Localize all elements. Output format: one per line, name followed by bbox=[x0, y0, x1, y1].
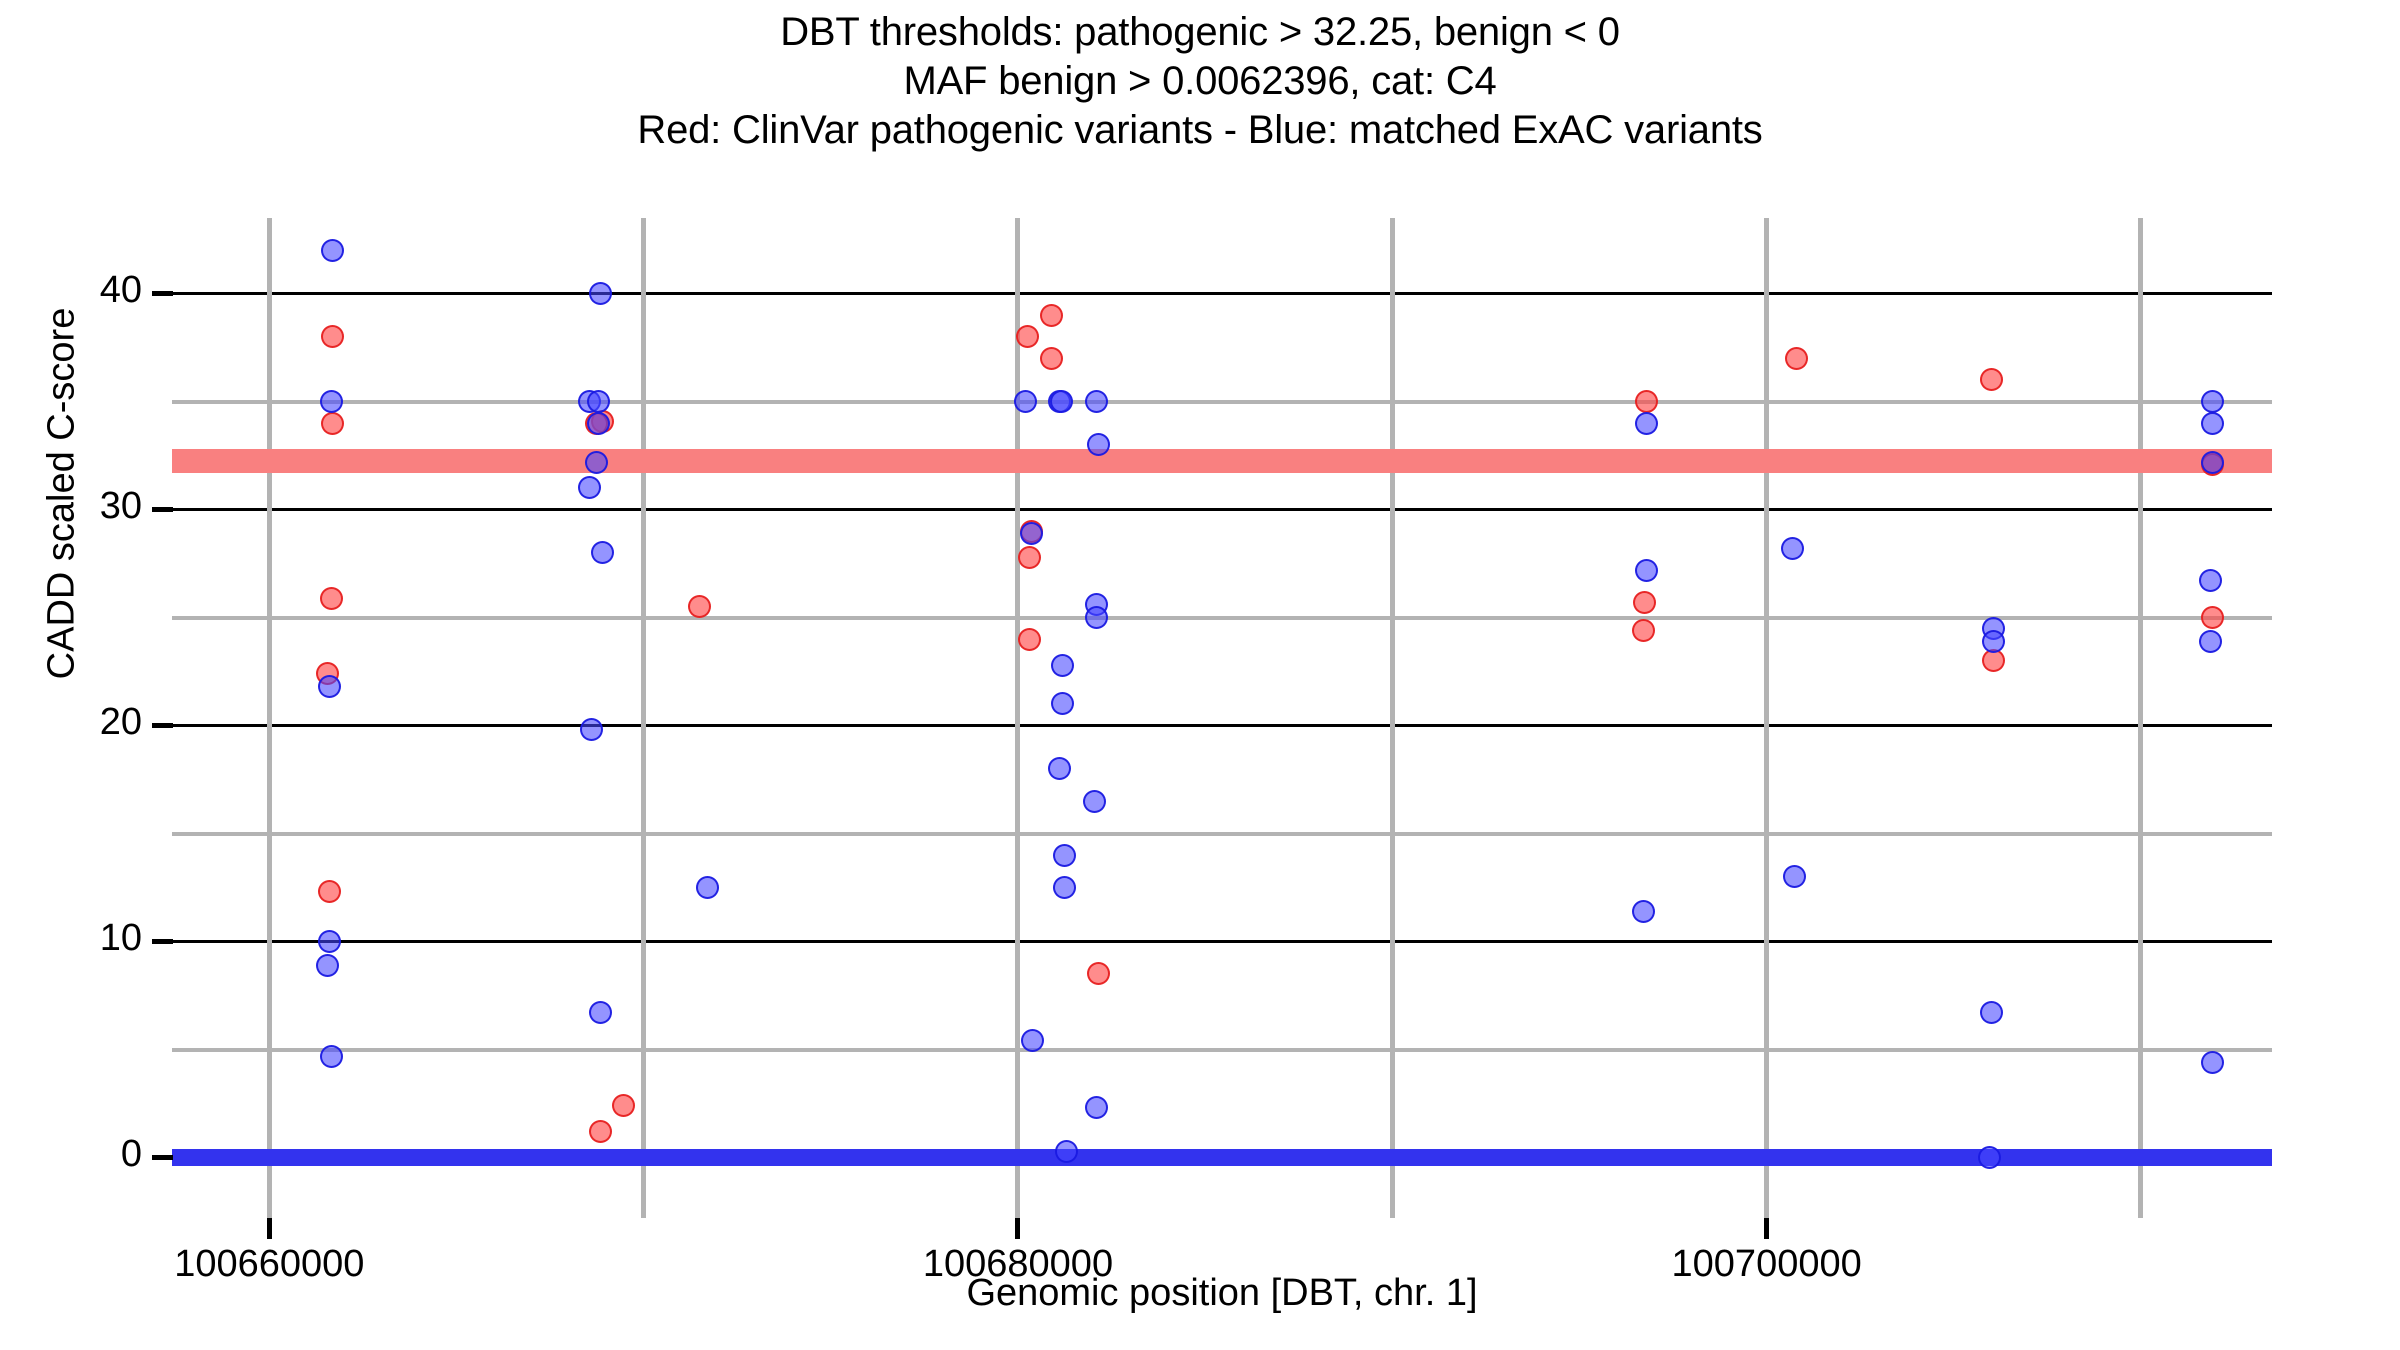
data-point-exac bbox=[1050, 390, 1073, 413]
gridline-vertical bbox=[2138, 218, 2143, 1218]
y-tick-label: 40 bbox=[0, 269, 142, 312]
data-point-exac bbox=[1980, 1001, 2003, 1024]
chart-title: DBT thresholds: pathogenic > 32.25, beni… bbox=[0, 8, 2400, 155]
gridline-vertical bbox=[1390, 218, 1395, 1218]
data-point-pathogenic bbox=[1087, 962, 1110, 985]
data-point-exac bbox=[1982, 630, 2005, 653]
data-point-exac bbox=[696, 876, 719, 899]
data-point-exac bbox=[1978, 1146, 2001, 1169]
y-tick-mark bbox=[152, 723, 173, 728]
y-tick-mark bbox=[152, 507, 173, 512]
gridline-vertical bbox=[267, 218, 272, 1218]
data-point-exac bbox=[318, 675, 341, 698]
x-tick-label: 100700000 bbox=[1517, 1243, 2017, 1286]
data-point-exac bbox=[320, 1045, 343, 1068]
data-point-exac bbox=[585, 451, 608, 474]
data-point-exac bbox=[321, 239, 344, 262]
data-point-exac bbox=[589, 1001, 612, 1024]
gridline-horizontal-minor bbox=[172, 832, 2272, 836]
scatter-plot-figure: DBT thresholds: pathogenic > 32.25, beni… bbox=[0, 0, 2400, 1350]
gridline-vertical bbox=[1015, 218, 1020, 1218]
y-tick-label: 20 bbox=[0, 701, 142, 744]
data-point-exac bbox=[1635, 412, 1658, 435]
data-point-exac bbox=[580, 718, 603, 741]
y-tick-label: 10 bbox=[0, 917, 142, 960]
x-tick-mark bbox=[1764, 1218, 1769, 1239]
data-point-exac bbox=[1783, 865, 1806, 888]
data-point-exac bbox=[2201, 412, 2224, 435]
y-tick-label: 0 bbox=[0, 1133, 142, 1176]
data-point-exac bbox=[1051, 692, 1074, 715]
gridline-horizontal-major bbox=[172, 292, 2272, 295]
gridline-vertical bbox=[1764, 218, 1769, 1218]
data-point-pathogenic bbox=[1018, 546, 1041, 569]
data-point-pathogenic bbox=[2201, 606, 2224, 629]
x-tick-mark bbox=[267, 1218, 272, 1239]
data-point-exac bbox=[578, 476, 601, 499]
data-point-pathogenic bbox=[1040, 304, 1063, 327]
data-point-exac bbox=[1083, 790, 1106, 813]
data-point-exac bbox=[2201, 451, 2224, 474]
data-point-exac bbox=[1020, 522, 1043, 545]
gridline-horizontal-major bbox=[172, 940, 2272, 943]
data-point-pathogenic bbox=[1635, 390, 1658, 413]
x-tick-label: 100660000 bbox=[19, 1243, 519, 1286]
gridline-horizontal-minor bbox=[172, 616, 2272, 620]
data-point-exac bbox=[1048, 757, 1071, 780]
y-tick-mark bbox=[152, 939, 173, 944]
y-tick-mark bbox=[152, 291, 173, 296]
data-point-exac bbox=[587, 390, 610, 413]
data-point-exac bbox=[2199, 630, 2222, 653]
data-point-pathogenic bbox=[1040, 347, 1063, 370]
data-point-exac bbox=[1053, 844, 1076, 867]
gridline-vertical bbox=[641, 218, 646, 1218]
data-point-exac bbox=[1781, 537, 1804, 560]
data-point-exac bbox=[316, 954, 339, 977]
data-point-pathogenic bbox=[1018, 628, 1041, 651]
data-point-exac bbox=[1053, 876, 1076, 899]
data-point-exac bbox=[1055, 1140, 1078, 1163]
chart-title-line-3: Red: ClinVar pathogenic variants - Blue:… bbox=[0, 106, 2400, 155]
data-point-exac bbox=[2201, 390, 2224, 413]
data-point-exac bbox=[1085, 606, 1108, 629]
plot-area bbox=[172, 218, 2272, 1218]
data-point-exac bbox=[1632, 900, 1655, 923]
x-tick-label: 100680000 bbox=[768, 1243, 1268, 1286]
data-point-exac bbox=[2201, 1051, 2224, 1074]
gridline-horizontal-major bbox=[172, 724, 2272, 727]
y-tick-label: 30 bbox=[0, 485, 142, 528]
gridline-horizontal-major bbox=[172, 508, 2272, 511]
y-tick-mark bbox=[152, 1155, 173, 1160]
pathogenic-threshold-line bbox=[172, 449, 2272, 473]
data-point-exac bbox=[320, 390, 343, 413]
benign-threshold-line bbox=[172, 1149, 2272, 1166]
chart-title-line-2: MAF benign > 0.0062396, cat: C4 bbox=[0, 57, 2400, 106]
data-point-exac bbox=[2199, 569, 2222, 592]
data-point-exac bbox=[1085, 1096, 1108, 1119]
data-point-pathogenic bbox=[1980, 368, 2003, 391]
data-point-pathogenic bbox=[318, 880, 341, 903]
data-point-exac bbox=[1014, 390, 1037, 413]
data-point-exac bbox=[591, 541, 614, 564]
gridline-horizontal-minor bbox=[172, 400, 2272, 404]
gridline-horizontal-minor bbox=[172, 1048, 2272, 1052]
data-point-pathogenic bbox=[1785, 347, 1808, 370]
data-point-exac bbox=[1085, 390, 1108, 413]
data-point-exac bbox=[589, 282, 612, 305]
data-point-exac bbox=[587, 412, 610, 435]
data-point-exac bbox=[1051, 654, 1074, 677]
data-point-pathogenic bbox=[320, 587, 343, 610]
data-point-pathogenic bbox=[1633, 591, 1656, 614]
data-point-pathogenic bbox=[1632, 619, 1655, 642]
data-point-exac bbox=[1635, 559, 1658, 582]
chart-title-line-1: DBT thresholds: pathogenic > 32.25, beni… bbox=[0, 8, 2400, 57]
data-point-exac bbox=[318, 930, 341, 953]
data-point-pathogenic bbox=[321, 412, 344, 435]
x-tick-mark bbox=[1015, 1218, 1020, 1239]
data-point-pathogenic bbox=[589, 1120, 612, 1143]
data-point-pathogenic bbox=[612, 1094, 635, 1117]
data-point-pathogenic bbox=[321, 325, 344, 348]
data-point-pathogenic bbox=[1016, 325, 1039, 348]
